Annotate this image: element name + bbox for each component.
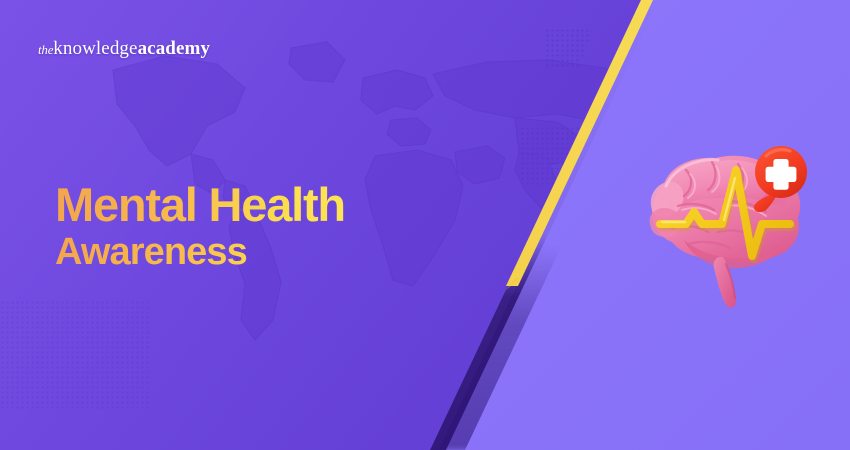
page-title: Mental Health Awareness <box>55 181 345 273</box>
logo-word-the: the <box>38 42 53 57</box>
headline-line-1: Mental Health <box>55 181 345 229</box>
logo-word-academy: academy <box>138 38 210 59</box>
mental-health-awareness-banner: theknowledgeacademy Mental Health Awaren… <box>0 0 850 450</box>
headline-line-2: Awareness <box>55 231 345 273</box>
logo-word-knowledge: knowledge <box>53 38 137 59</box>
mental-health-illustration <box>626 140 826 310</box>
brand-logo[interactable]: theknowledgeacademy <box>38 38 210 61</box>
